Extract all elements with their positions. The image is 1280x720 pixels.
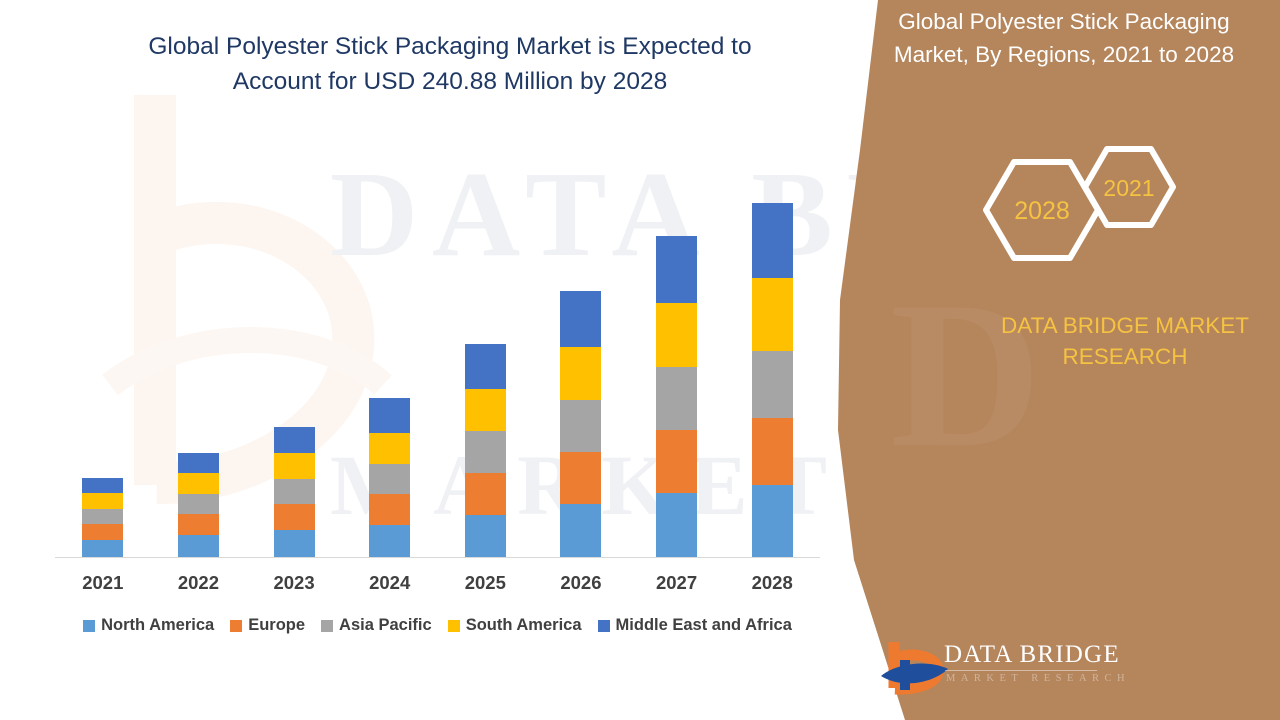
chart-legend: North AmericaEuropeAsia PacificSouth Ame… [50, 616, 825, 635]
bar-segment[interactable] [274, 427, 315, 453]
legend-swatch-icon [448, 620, 460, 632]
bar-segment[interactable] [465, 389, 506, 431]
panel-brand-line-2: RESEARCH [960, 341, 1280, 372]
stacked-bar[interactable] [752, 203, 793, 557]
legend-label: Middle East and Africa [616, 616, 792, 635]
bar-segment[interactable] [178, 494, 219, 514]
bar-segment[interactable] [369, 398, 410, 433]
bar-segment[interactable] [274, 530, 315, 557]
bar-segment[interactable] [465, 431, 506, 473]
chart-title-line-2: Account for USD 240.88 Million by 2028 [95, 65, 805, 100]
panel-watermark: D [890, 270, 1046, 480]
legend-label: South America [466, 616, 582, 635]
x-axis-tick-label: 2028 [725, 572, 820, 602]
legend-swatch-icon [598, 620, 610, 632]
x-axis-line [55, 557, 820, 558]
bar-segment[interactable] [656, 367, 697, 430]
bar-segment[interactable] [560, 504, 601, 557]
legend-label: Europe [248, 616, 305, 635]
legend-label: North America [101, 616, 214, 635]
panel-title-line-1: Global Polyester Stick Packaging [858, 6, 1270, 39]
bar-segment[interactable] [752, 203, 793, 278]
stacked-bar[interactable] [178, 453, 219, 557]
bar-group [55, 120, 820, 557]
bar-column [55, 120, 150, 557]
x-axis-tick-label: 2025 [438, 572, 533, 602]
bar-segment[interactable] [560, 400, 601, 452]
stacked-bar[interactable] [274, 427, 315, 557]
chart-title-line-1: Global Polyester Stick Packaging Market … [95, 30, 805, 65]
bar-segment[interactable] [178, 535, 219, 557]
bar-column [151, 120, 246, 557]
x-axis-tick-label: 2026 [533, 572, 628, 602]
stacked-bar[interactable] [560, 291, 601, 557]
hexagon-label-2021: 2021 [1103, 175, 1154, 201]
bar-segment[interactable] [82, 509, 123, 524]
logo-divider [945, 670, 1097, 671]
stacked-bar[interactable] [465, 344, 506, 557]
bar-segment[interactable] [560, 291, 601, 347]
hexagon-group: 2028 2021 [975, 135, 1190, 285]
logo-subtext: MARKET RESEARCH [946, 673, 1130, 684]
x-axis-tick-label: 2023 [247, 572, 342, 602]
bar-segment[interactable] [274, 504, 315, 530]
bar-column [629, 120, 724, 557]
legend-item[interactable]: Europe [230, 616, 305, 635]
bar-segment[interactable] [656, 430, 697, 493]
x-axis-ticks: 20212022202320242025202620272028 [55, 572, 820, 602]
legend-item[interactable]: Asia Pacific [321, 616, 432, 635]
bar-segment[interactable] [656, 303, 697, 367]
bar-segment[interactable] [752, 351, 793, 418]
bar-segment[interactable] [465, 515, 506, 557]
chart-title: Global Polyester Stick Packaging Market … [95, 30, 805, 100]
bar-segment[interactable] [82, 540, 123, 557]
bar-segment[interactable] [369, 494, 410, 525]
bar-segment[interactable] [560, 452, 601, 504]
x-axis-tick-label: 2022 [151, 572, 246, 602]
x-axis-tick-label: 2024 [342, 572, 437, 602]
legend-swatch-icon [321, 620, 333, 632]
panel-title: Global Polyester Stick Packaging Market,… [858, 6, 1270, 71]
x-axis-tick-label: 2027 [629, 572, 724, 602]
bar-segment[interactable] [656, 493, 697, 557]
bar-segment[interactable] [178, 514, 219, 535]
bar-segment[interactable] [465, 344, 506, 389]
hexagon-label-2028: 2028 [1014, 197, 1070, 225]
x-axis-tick-label: 2021 [55, 572, 150, 602]
logo-wordmark: DATA BRIDGE [944, 641, 1120, 669]
bar-segment[interactable] [82, 524, 123, 540]
bar-column [438, 120, 533, 557]
panel-title-line-2: Market, By Regions, 2021 to 2028 [858, 39, 1270, 72]
slide-canvas: DATA BRIDGE MARKET RESEARCH Global Polye… [0, 0, 1280, 720]
bar-segment[interactable] [369, 464, 410, 494]
bar-segment[interactable] [274, 479, 315, 504]
legend-label: Asia Pacific [339, 616, 432, 635]
plot-area [55, 120, 820, 558]
bar-column [533, 120, 628, 557]
bar-segment[interactable] [369, 433, 410, 464]
stacked-bar[interactable] [82, 478, 123, 557]
bar-segment[interactable] [82, 478, 123, 493]
legend-item[interactable]: South America [448, 616, 582, 635]
bar-column [725, 120, 820, 557]
legend-swatch-icon [230, 620, 242, 632]
bar-segment[interactable] [82, 493, 123, 509]
panel-brand: DATA BRIDGE MARKET RESEARCH [960, 310, 1280, 372]
stacked-bar[interactable] [369, 398, 410, 557]
legend-swatch-icon [83, 620, 95, 632]
bar-segment[interactable] [369, 525, 410, 557]
bar-segment[interactable] [178, 453, 219, 473]
bar-column [247, 120, 342, 557]
bar-segment[interactable] [752, 418, 793, 485]
legend-item[interactable]: North America [83, 616, 214, 635]
bar-segment[interactable] [752, 485, 793, 557]
bar-column [342, 120, 437, 557]
bar-segment[interactable] [752, 278, 793, 351]
bar-segment[interactable] [274, 453, 315, 479]
bar-segment[interactable] [465, 473, 506, 515]
bar-segment[interactable] [656, 236, 697, 303]
bar-segment[interactable] [560, 347, 601, 400]
panel-brand-line-1: DATA BRIDGE MARKET [960, 310, 1280, 341]
stacked-bar[interactable] [656, 236, 697, 557]
legend-item[interactable]: Middle East and Africa [598, 616, 792, 635]
bar-segment[interactable] [178, 473, 219, 494]
